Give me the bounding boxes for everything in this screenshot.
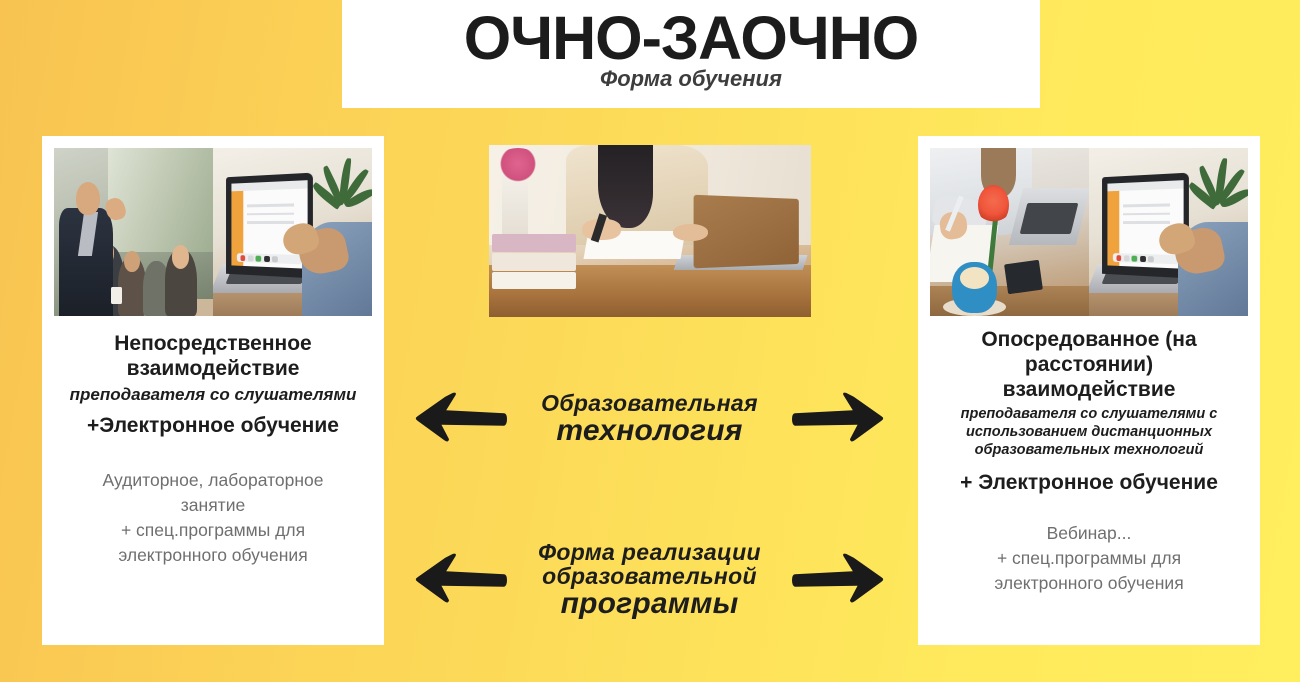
page-title: ОЧНО-ЗАОЧНО bbox=[464, 6, 918, 70]
student-studying-photo bbox=[489, 145, 811, 317]
laptop-typing-photo bbox=[1089, 148, 1248, 316]
left-photo-collage bbox=[54, 148, 372, 316]
laptop-typing-photo bbox=[213, 148, 372, 316]
arrow-right-icon bbox=[792, 551, 887, 609]
right-card-subheading: преподавателя со слушателями с использов… bbox=[936, 406, 1242, 460]
right-card-detail-line: + спец.программы для bbox=[936, 546, 1242, 571]
writing-with-coffee-photo bbox=[930, 148, 1089, 316]
right-card-body: Опосредованное (на расстоянии) взаимодей… bbox=[930, 328, 1248, 596]
page-subtitle: Форма обучения bbox=[600, 67, 782, 91]
relation-label-line: Форма реализации bbox=[511, 540, 788, 564]
arrow-left-icon bbox=[412, 390, 507, 448]
relation-label-program: Форма реализации образовательной програм… bbox=[507, 540, 792, 621]
card-full-time-partial: Непосредственное взаимодействие преподав… bbox=[42, 136, 384, 645]
left-card-heading-secondary: +Электронное обучение bbox=[60, 413, 366, 438]
right-photo-collage bbox=[930, 148, 1248, 316]
right-card-heading-secondary: + Электронное обучение bbox=[936, 470, 1242, 495]
infographic-canvas: ОЧНО-ЗАОЧНО Форма обучения bbox=[0, 0, 1300, 682]
right-card-detail-line: Вебинар... bbox=[936, 521, 1242, 546]
card-distance-learning: Опосредованное (на расстоянии) взаимодей… bbox=[918, 136, 1260, 645]
right-card-details: Вебинар... + спец.программы для электрон… bbox=[936, 521, 1242, 596]
left-card-detail-line: занятие bbox=[60, 493, 366, 518]
relation-label-line: Образовательная bbox=[511, 391, 788, 415]
left-card-detail-line: Аудиторное, лабораторное bbox=[60, 468, 366, 493]
relation-row-program: Форма реализации образовательной програм… bbox=[412, 528, 887, 632]
arrow-right-icon bbox=[792, 390, 887, 448]
right-card-heading: Опосредованное (на расстоянии) взаимодей… bbox=[936, 328, 1242, 402]
right-card-detail-line: электронного обучения bbox=[936, 571, 1242, 596]
lecturer-photo bbox=[54, 148, 213, 316]
left-card-details: Аудиторное, лабораторное занятие + спец.… bbox=[60, 468, 366, 567]
arrow-left-icon bbox=[412, 551, 507, 609]
left-card-subheading: преподавателя со слушателями bbox=[60, 385, 366, 405]
left-card-detail-line: + спец.программы для bbox=[60, 518, 366, 543]
left-card-detail-line: электронного обучения bbox=[60, 543, 366, 568]
title-banner: ОЧНО-ЗАОЧНО Форма обучения bbox=[342, 0, 1040, 108]
left-card-body: Непосредственное взаимодействие преподав… bbox=[54, 332, 372, 567]
relation-label-line: программы bbox=[511, 588, 788, 620]
left-card-heading: Непосредственное взаимодействие bbox=[60, 332, 366, 382]
relation-label-line: технология bbox=[511, 415, 788, 447]
relation-label-line: образовательной bbox=[511, 564, 788, 588]
relation-row-technology: Образовательная технология bbox=[412, 378, 887, 460]
relation-label-technology: Образовательная технология bbox=[507, 391, 792, 447]
